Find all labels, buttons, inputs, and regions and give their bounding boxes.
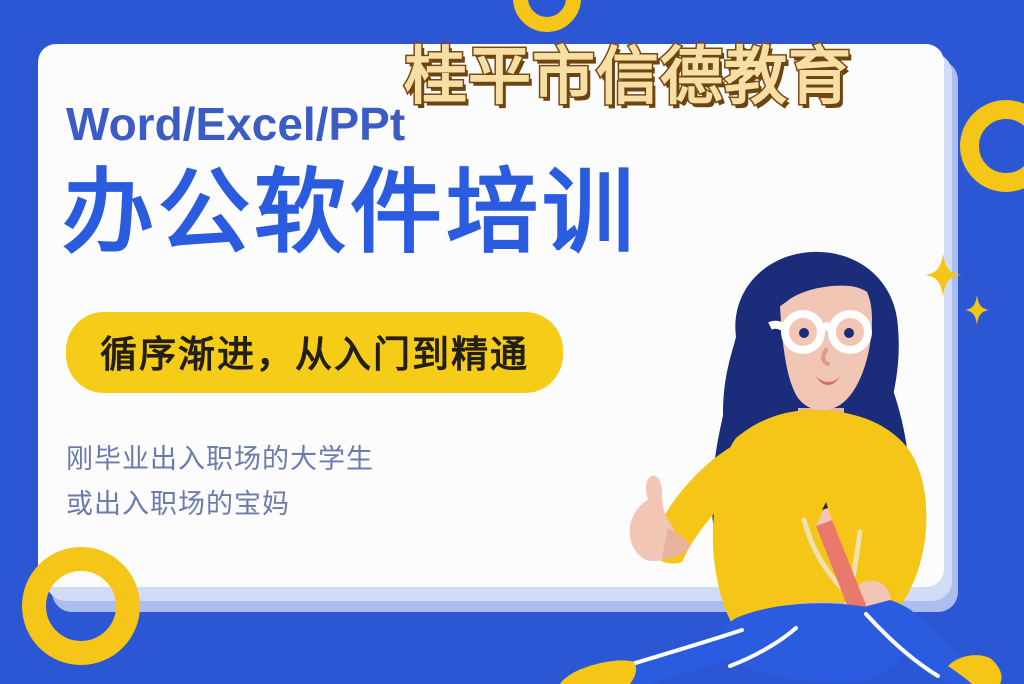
description-block: 刚毕业出入职场的大学生 或出入职场的宝妈	[66, 437, 374, 527]
page-title: 办公软件培训	[62, 167, 638, 259]
tagline-badge: 循序渐进，从入门到精通	[66, 312, 563, 393]
kicker-text: Word/Excel/PPt	[66, 97, 405, 151]
woman-illustration	[560, 232, 1024, 684]
description-line-1: 刚毕业出入职场的大学生	[66, 437, 374, 482]
ring-bottom-left-decoration	[22, 547, 140, 665]
description-line-2: 或出入职场的宝妈	[66, 482, 374, 527]
ring-right-decoration	[960, 100, 1024, 192]
watermark-text: 桂平市信德教育	[404, 26, 852, 117]
poster-root: Word/Excel/PPt 办公软件培训 循序渐进，从入门到精通 刚毕业出入职…	[0, 0, 1024, 684]
